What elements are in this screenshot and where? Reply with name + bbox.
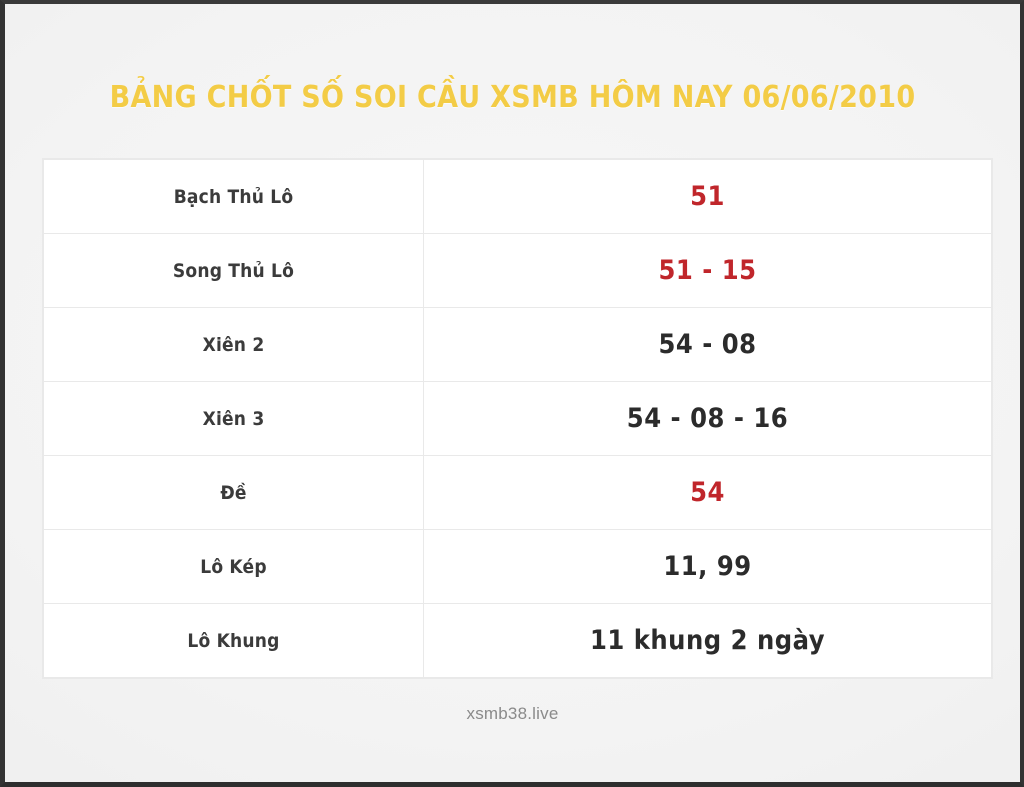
row-label: Lô Kép <box>44 530 424 604</box>
row-value: 51 <box>424 160 992 234</box>
row-value: 54 - 08 - 16 <box>424 382 992 456</box>
row-label: Lô Khung <box>44 604 424 678</box>
page-title: BẢNG CHỐT SỐ SOI CẦU XSMB HÔM NAY 06/06/… <box>5 80 1020 115</box>
row-value: 51 - 15 <box>424 234 992 308</box>
site-watermark: xsmb38.live <box>5 704 1020 724</box>
row-value: 54 - 08 <box>424 308 992 382</box>
table-row: Bạch Thủ Lô 51 <box>44 160 992 234</box>
table-row: Xiên 3 54 - 08 - 16 <box>44 382 992 456</box>
row-label: Song Thủ Lô <box>44 234 424 308</box>
image-frame: BẢNG CHỐT SỐ SOI CẦU XSMB HÔM NAY 06/06/… <box>0 0 1024 787</box>
table-row: Lô Khung 11 khung 2 ngày <box>44 604 992 678</box>
row-label: Đề <box>44 456 424 530</box>
row-label: Xiên 3 <box>44 382 424 456</box>
row-value: 11, 99 <box>424 530 992 604</box>
table-row: Lô Kép 11, 99 <box>44 530 992 604</box>
row-label: Xiên 2 <box>44 308 424 382</box>
row-label: Bạch Thủ Lô <box>44 160 424 234</box>
page-background: BẢNG CHỐT SỐ SOI CẦU XSMB HÔM NAY 06/06/… <box>5 4 1020 782</box>
table-row: Song Thủ Lô 51 - 15 <box>44 234 992 308</box>
prediction-table: Bạch Thủ Lô 51 Song Thủ Lô 51 - 15 Xiên … <box>43 159 992 678</box>
row-value: 11 khung 2 ngày <box>424 604 992 678</box>
table-row: Đề 54 <box>44 456 992 530</box>
row-value: 54 <box>424 456 992 530</box>
table-row: Xiên 2 54 - 08 <box>44 308 992 382</box>
prediction-table-body: Bạch Thủ Lô 51 Song Thủ Lô 51 - 15 Xiên … <box>44 160 992 678</box>
prediction-table-container: Bạch Thủ Lô 51 Song Thủ Lô 51 - 15 Xiên … <box>43 159 991 678</box>
